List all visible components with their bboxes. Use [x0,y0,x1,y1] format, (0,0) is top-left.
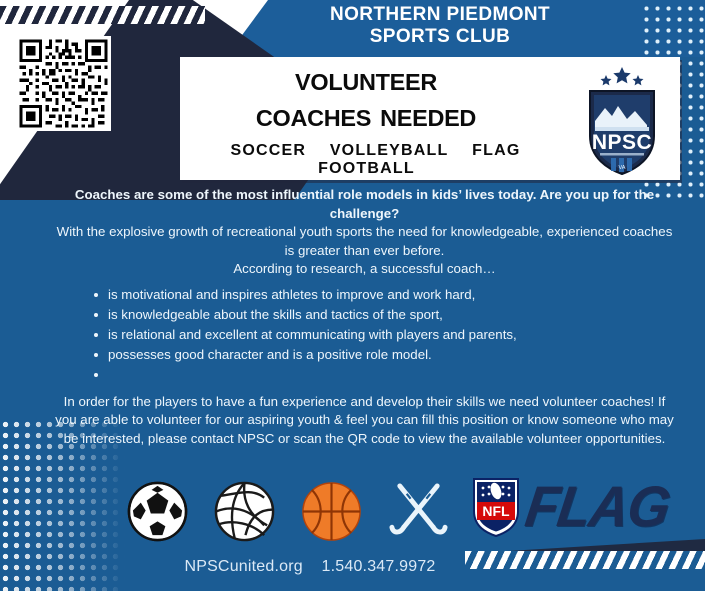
list-item: possesses good character and is a positi… [94,345,677,365]
sports-icon-row [126,480,450,543]
headline-line2: Coaches Needed [176,97,555,133]
field-hockey-sticks-icon [387,480,450,543]
dot-grid-bottom-left [0,419,125,591]
soccer-ball-icon [126,480,189,543]
paragraph-3: According to research, a successful coac… [52,260,677,279]
lead-paragraph: Coaches are some of the most influential… [52,186,677,223]
org-name: NORTHERN PIEDMONT SPORTS CLUB [270,4,610,48]
org-name-line2: SPORTS CLUB [270,26,610,48]
headline: Volunteer Coaches Needed [176,61,555,133]
website-link[interactable]: NPSCunited.org [184,558,302,575]
hatch-stripes-top-left [0,6,205,24]
hatch-stripes-bottom-right [465,551,705,569]
volleyball-icon [213,480,276,543]
closing-paragraph: In order for the players to have a fun e… [52,393,677,449]
list-item: is knowledgeable about the skills and ta… [94,305,677,325]
npsc-logo: NPSC VA [576,61,668,177]
basketball-icon [300,480,363,543]
shield-state: VA [619,165,626,171]
stars-icon [601,67,644,85]
nfl-shield-icon: NFL [470,476,522,538]
headline-line1: Volunteer [176,61,555,97]
footer-contact: NPSCunited.org 1.540.347.9972 [140,558,480,576]
sport-volleyball: VOLLEYBALL [330,142,449,159]
coach-traits-list: is motivational and inspires athletes to… [52,285,677,385]
poster-canvas: NORTHERN PIEDMONT SPORTS CLUB Volunteer … [0,0,705,591]
sport-soccer: SOCCER [231,142,307,159]
phone-number[interactable]: 1.540.347.9972 [322,558,436,575]
qr-code-icon[interactable] [16,36,111,131]
shield-wordmark: NPSC [592,131,652,154]
flag-wordmark: FLAG [522,478,673,535]
list-item: is motivational and inspires athletes to… [94,285,677,305]
list-item: is relational and excellent at communica… [94,325,677,345]
list-item [94,365,677,385]
title-card: Volunteer Coaches Needed SOCCER VOLLEYBA… [180,57,680,180]
body-copy: Coaches are some of the most influential… [52,186,677,448]
nfl-wordmark: NFL [482,503,510,519]
nfl-flag-logo: NFL FLAG [470,476,669,538]
org-name-line1: NORTHERN PIEDMONT [270,4,610,26]
sports-list: SOCCER VOLLEYBALL FLAG FOOTBALL [180,142,562,178]
paragraph-2: With the explosive growth of recreationa… [52,223,677,260]
